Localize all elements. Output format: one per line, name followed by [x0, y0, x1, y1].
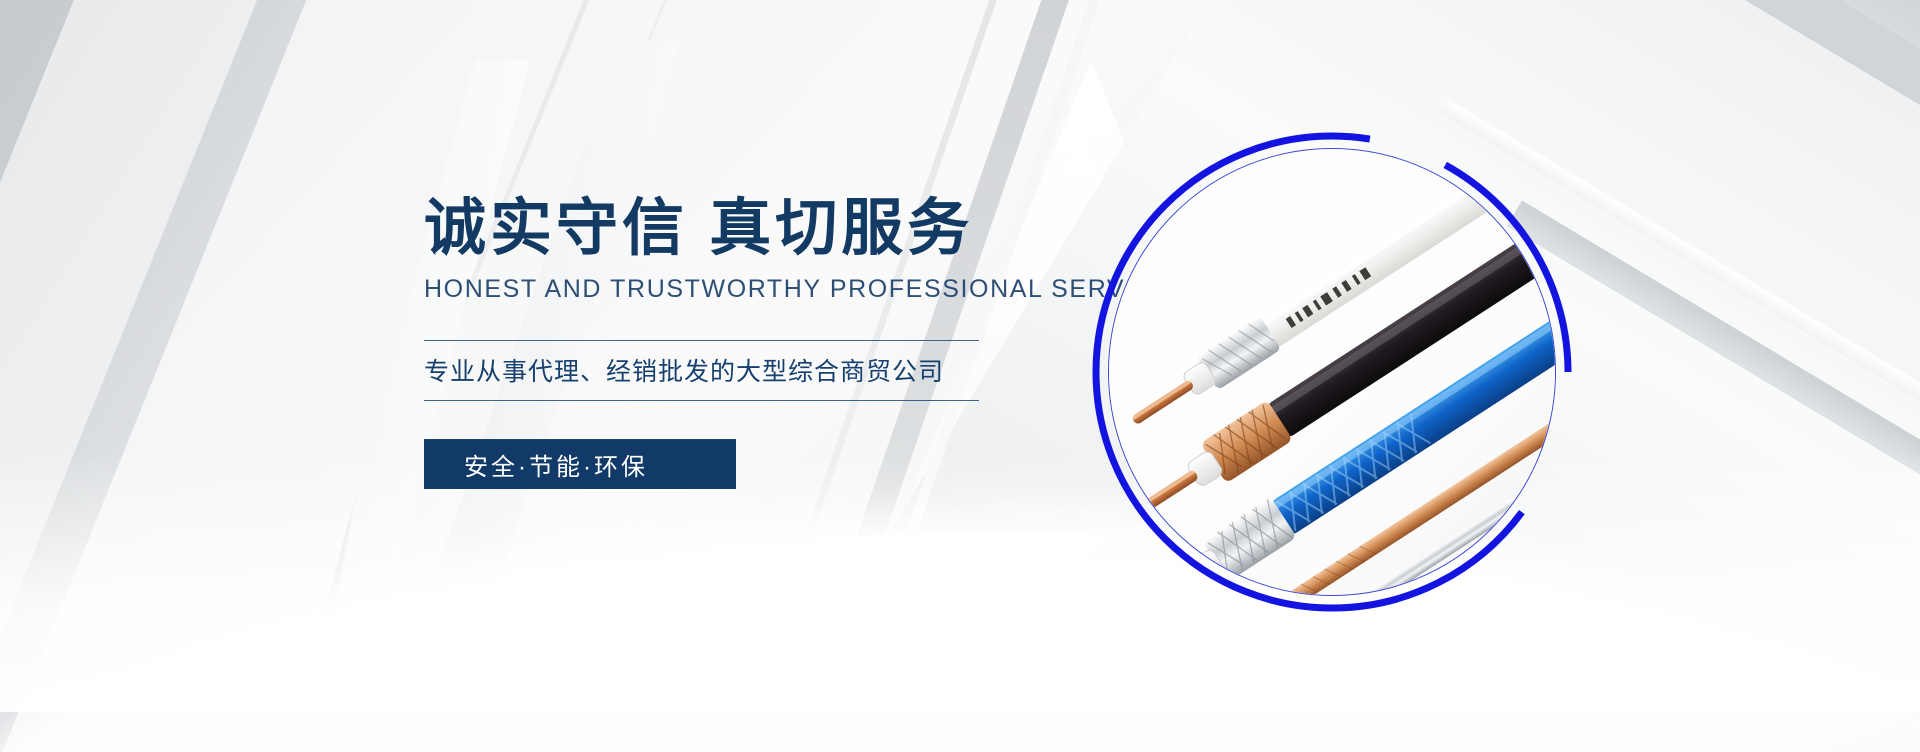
product-photo — [1108, 148, 1556, 596]
feature-badge[interactable]: 安全·节能·环保 — [424, 439, 736, 489]
background-floor-glow — [0, 452, 1920, 712]
banner-subtitle-english: HONEST AND TRUSTWORTHY PROFESSIONAL SERV… — [424, 275, 1084, 304]
banner-text-block: 诚实守信 真切服务 HONEST AND TRUSTWORTHY PROFESS… — [424, 196, 1084, 489]
divider-top — [424, 340, 979, 341]
divider-bottom — [424, 400, 979, 401]
badge-label: 安全·节能·环保 — [464, 447, 648, 482]
product-image-circle — [1108, 148, 1556, 596]
banner-headline: 诚实守信 真切服务 — [424, 196, 1084, 261]
hero-banner: 诚实守信 真切服务 HONEST AND TRUSTWORTHY PROFESS… — [0, 0, 1920, 752]
banner-tagline: 专业从事代理、经销批发的大型综合商贸公司 — [424, 341, 1084, 400]
